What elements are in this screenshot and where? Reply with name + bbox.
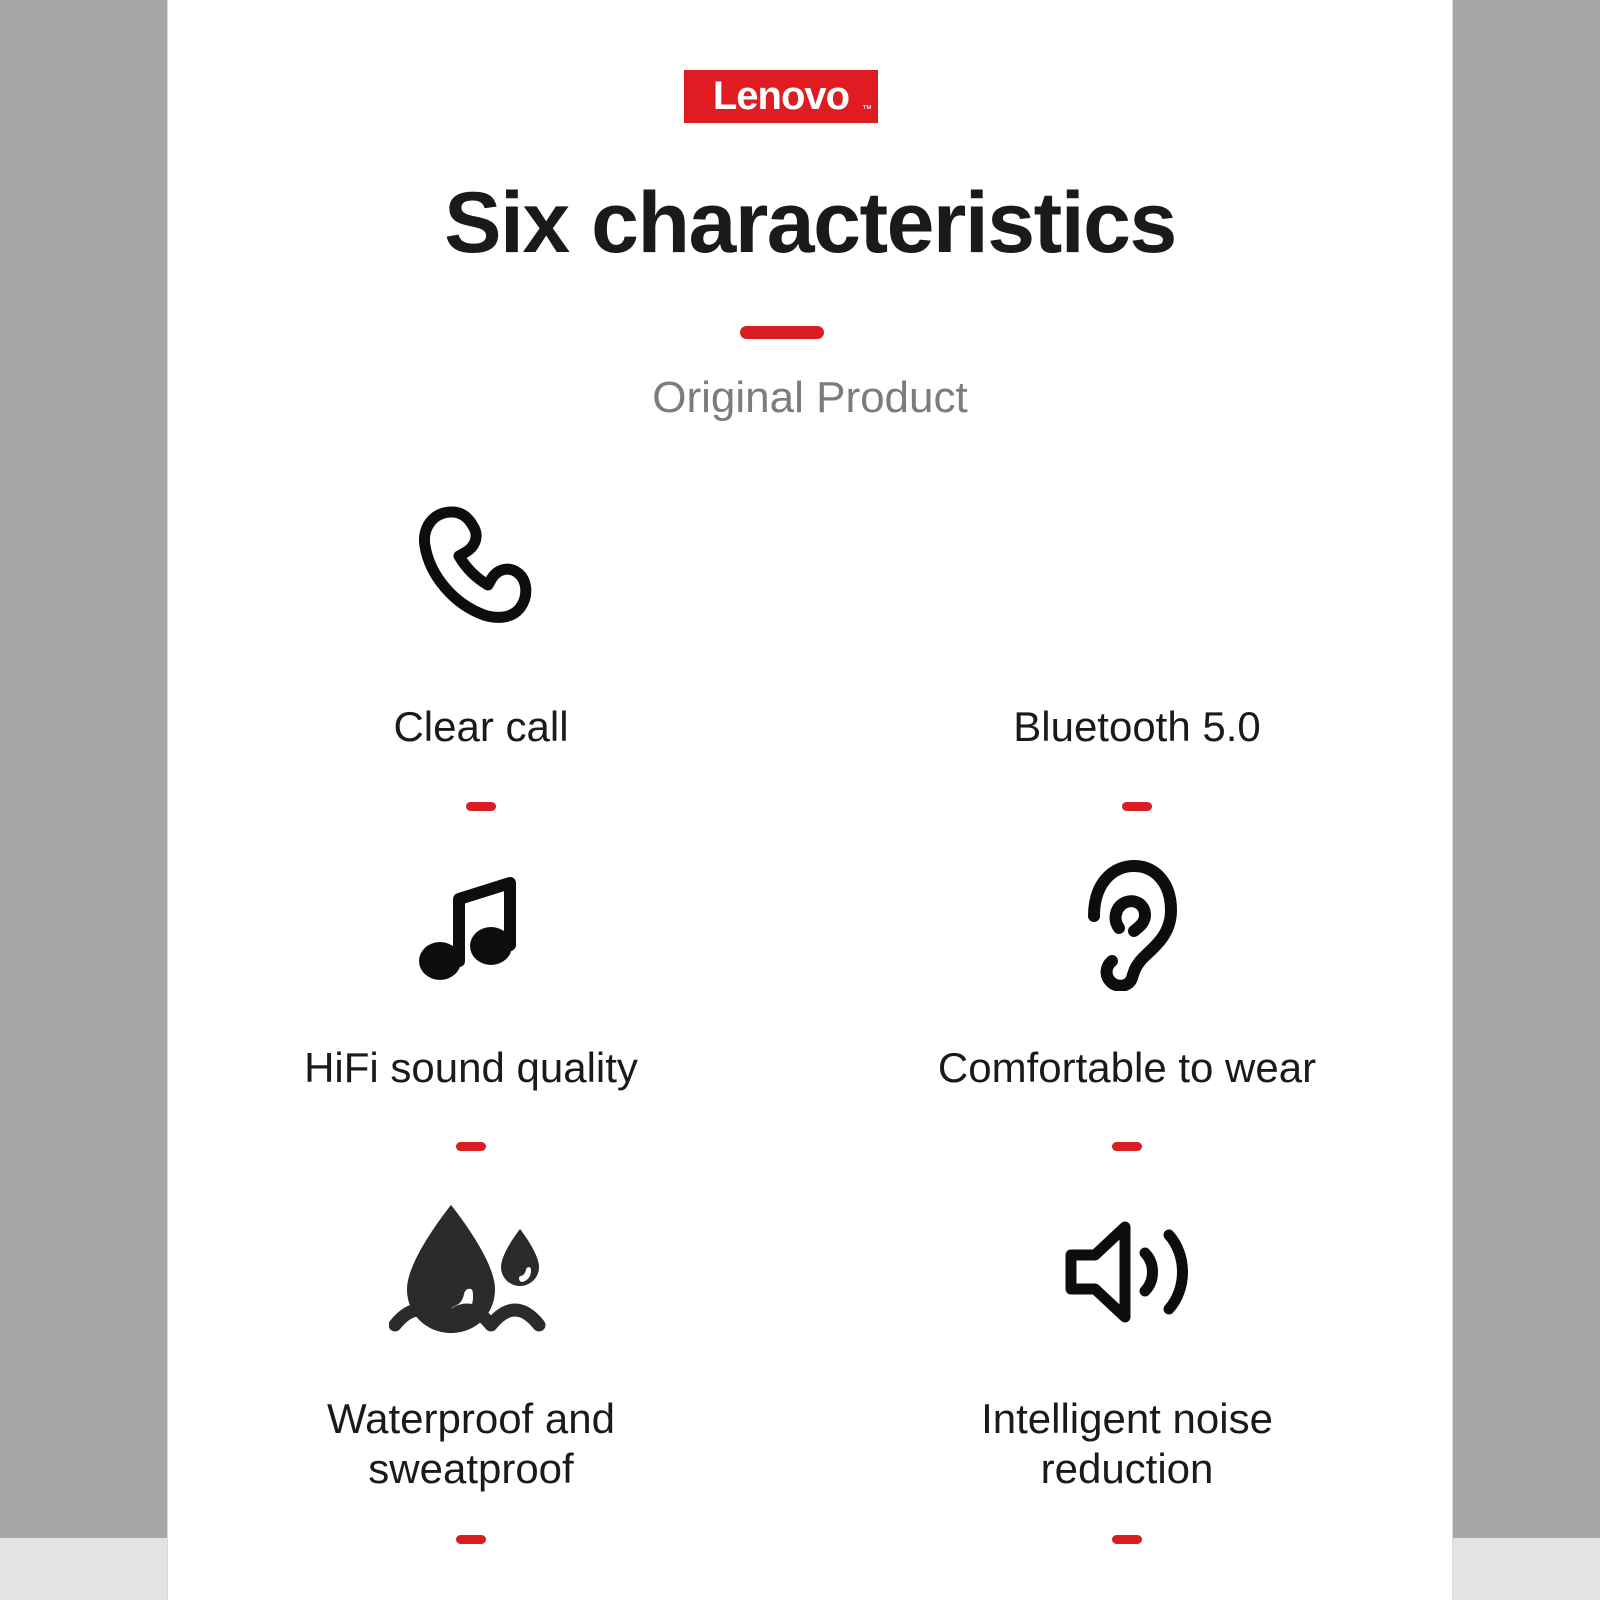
lenovo-logo: Lenovo ™	[684, 70, 878, 123]
trademark-symbol: ™	[862, 105, 872, 115]
feature-item-comfortable-wear: Comfortable to wear	[806, 811, 1448, 1152]
feature-label: HiFi sound quality	[304, 1043, 638, 1093]
lenovo-logo-text: Lenovo	[713, 76, 849, 116]
feature-label: Waterproof and sweatproof	[327, 1394, 615, 1493]
ear-icon	[1072, 849, 1182, 999]
product-detail-page: Lenovo ™ Six characteristics Original Pr…	[168, 0, 1452, 1600]
feature-divider	[1112, 1142, 1142, 1151]
feature-row: Clear call Bluetooth 5.0	[168, 470, 1452, 811]
speaker-volume-icon	[1057, 1189, 1197, 1354]
feature-grid: Clear call Bluetooth 5.0 HiFi s	[168, 470, 1452, 1544]
feature-label: Clear call	[393, 702, 568, 752]
feature-divider	[456, 1535, 486, 1544]
feature-item-hifi-sound: HiFi sound quality	[168, 811, 792, 1152]
feature-divider	[1122, 802, 1152, 811]
feature-label: Comfortable to wear	[938, 1043, 1316, 1093]
title-divider	[740, 326, 824, 339]
feature-label: Bluetooth 5.0	[1013, 702, 1261, 752]
feature-label: Intelligent noise reduction	[981, 1394, 1273, 1493]
page-title: Six characteristics	[168, 178, 1452, 268]
feature-item-clear-call: Clear call	[168, 470, 802, 811]
feature-divider	[456, 1142, 486, 1151]
feature-divider	[1112, 1535, 1142, 1544]
phone-handset-icon	[406, 480, 556, 650]
feature-item-bluetooth: Bluetooth 5.0	[816, 470, 1452, 811]
feature-divider	[466, 802, 496, 811]
page-subtitle: Original Product	[168, 372, 1452, 425]
music-note-icon	[406, 849, 536, 999]
feature-row: HiFi sound quality Comfortable to wear	[168, 811, 1452, 1152]
feature-row: Waterproof and sweatproof Intelligent no…	[168, 1151, 1452, 1544]
water-drop-icon	[389, 1189, 554, 1354]
feature-item-waterproof: Waterproof and sweatproof	[168, 1151, 792, 1544]
feature-item-noise-reduction: Intelligent noise reduction	[806, 1151, 1448, 1544]
